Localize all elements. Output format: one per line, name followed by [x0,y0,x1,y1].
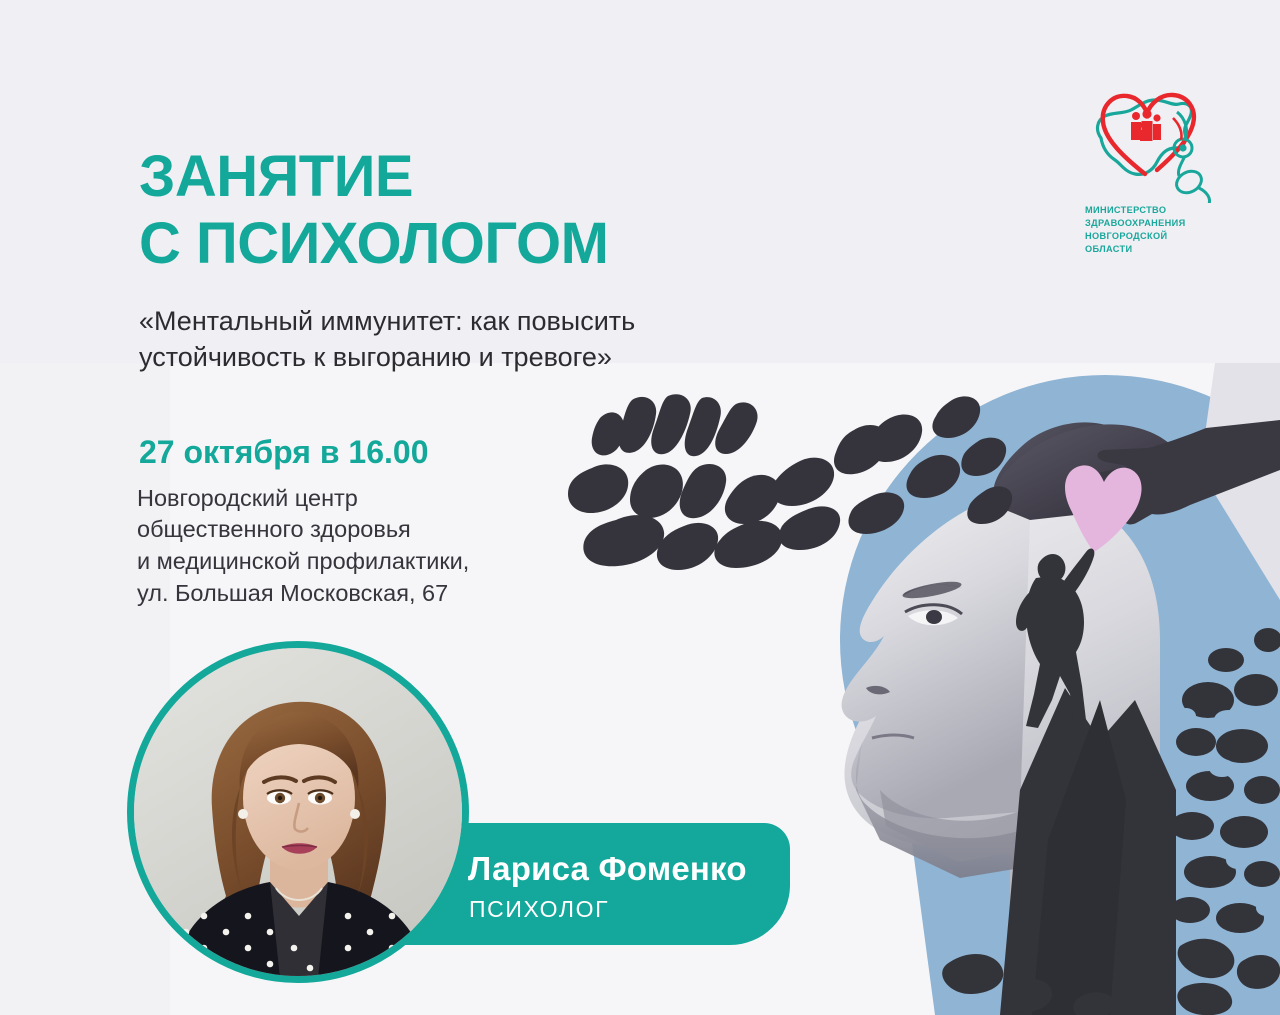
ministry-logo-text: МИНИСТЕРСТВО ЗДРАВООХРАНЕНИЯ НОВГОРОДСКО… [1085,204,1215,256]
page-title: ЗАНЯТИЕ С ПСИХОЛОГОМ [139,143,608,278]
event-datetime: 27 октября в 16.00 [139,434,428,471]
event-venue-address: Новгородский центр общественного здоровь… [137,483,657,611]
speaker-role: ПСИХОЛОГ [469,896,609,923]
logo-mark [1073,78,1233,203]
speaker-photo [134,648,464,978]
family-icon [1131,109,1161,141]
speaker-name: Лариса Фоменко [468,850,747,888]
ministry-logo: МИНИСТЕРСТВО ЗДРАВООХРАНЕНИЯ НОВГОРОДСКО… [1073,78,1233,268]
poster-canvas: ЗАНЯТИЕ С ПСИХОЛОГОМ «Ментальный иммунит… [0,0,1280,1015]
speaker-portrait [127,641,469,983]
event-subtitle: «Ментальный иммунитет: как повысить усто… [139,304,839,376]
